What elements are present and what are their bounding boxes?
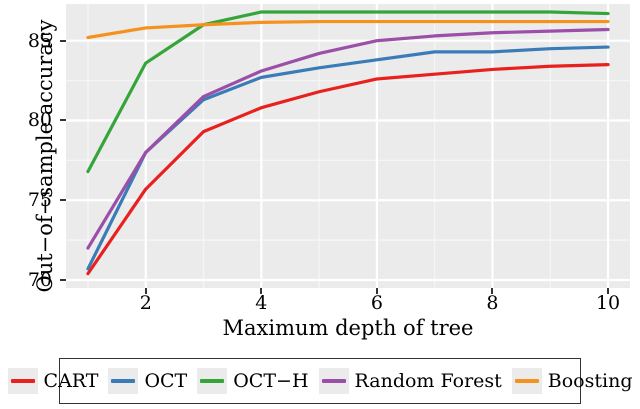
- legend-key-swatch: [197, 368, 227, 394]
- legend-item[interactable]: Boosting: [512, 368, 633, 394]
- x-tick-mark: [376, 288, 378, 294]
- legend-item[interactable]: CART: [8, 368, 99, 394]
- legend-line-icon: [200, 379, 224, 383]
- x-tick-mark: [607, 288, 609, 294]
- legend-key-swatch: [512, 368, 542, 394]
- x-tick-label: 10: [596, 292, 620, 314]
- legend-key-swatch: [108, 368, 138, 394]
- legend-label: CART: [44, 370, 99, 392]
- legend-key-swatch: [8, 368, 38, 394]
- series-line-boosting: [88, 22, 608, 38]
- legend-item[interactable]: OCT: [108, 368, 187, 394]
- x-tick-mark: [260, 288, 262, 294]
- legend-label: Random Forest: [355, 370, 502, 392]
- legend-key-swatch: [319, 368, 349, 394]
- plot-panel: [66, 4, 630, 288]
- legend-item[interactable]: Random Forest: [319, 368, 502, 394]
- y-tick-label: 85: [28, 30, 52, 52]
- series-line-oct-h: [88, 12, 608, 172]
- legend-line-icon: [322, 379, 346, 383]
- x-tick-mark: [145, 288, 147, 294]
- x-tick-label: 2: [140, 292, 152, 314]
- x-tick-mark: [491, 288, 493, 294]
- plot-area: [66, 4, 630, 288]
- x-axis-title: Maximum depth of tree: [66, 316, 630, 340]
- chart-legend: CARTOCTOCT−HRandom ForestBoosting: [59, 358, 581, 404]
- legend-label: OCT: [144, 370, 187, 392]
- legend-item[interactable]: OCT−H: [197, 368, 308, 394]
- y-tick-label: 75: [28, 189, 52, 211]
- chart-figure: Out−of−sample accuracy Maximum depth of …: [0, 0, 640, 409]
- x-tick-label: 8: [486, 292, 498, 314]
- legend-label: OCT−H: [233, 370, 308, 392]
- y-tick-label: 80: [28, 109, 52, 131]
- x-tick-label: 4: [255, 292, 267, 314]
- x-tick-label: 6: [371, 292, 383, 314]
- legend-line-icon: [111, 379, 135, 383]
- legend-label: Boosting: [548, 370, 633, 392]
- legend-line-icon: [11, 379, 35, 383]
- series-line-cart: [88, 65, 608, 274]
- y-tick-label: 70: [28, 269, 52, 291]
- legend-line-icon: [515, 379, 539, 383]
